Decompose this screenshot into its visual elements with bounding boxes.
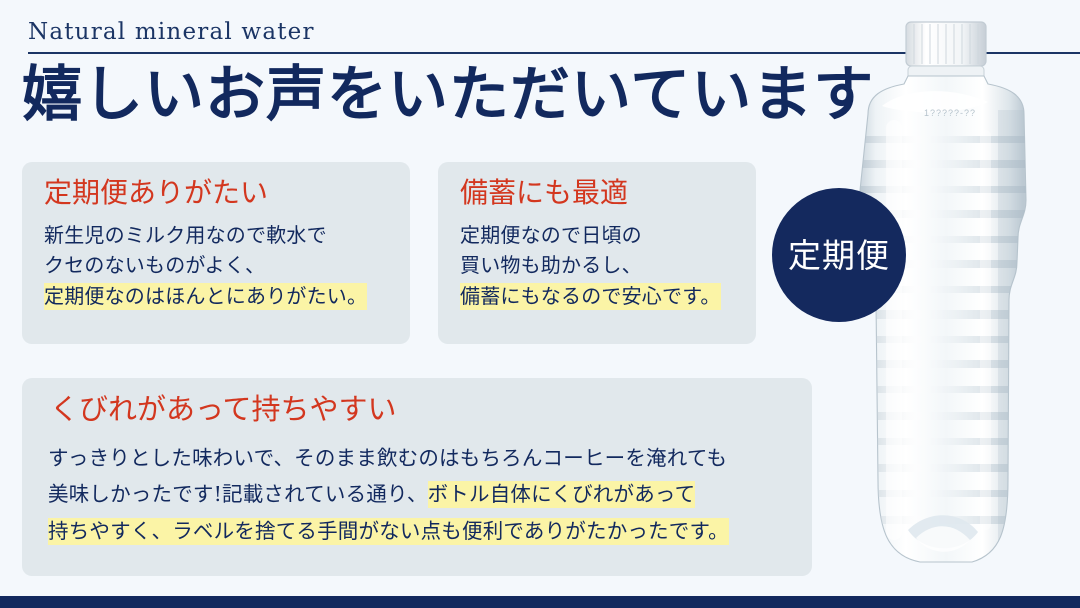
eyebrow-text: Natural mineral water: [28, 20, 1080, 45]
testimonial-line: 定期便なのはほんとにありがたい。: [44, 281, 367, 311]
testimonial-line: クセのないものがよく、: [44, 250, 367, 280]
testimonial-line: 定期便なので日頃の: [460, 220, 721, 250]
testimonial-card-1-title: 定期便ありがたい: [44, 178, 268, 209]
testimonial-line: 美味しかったです!記載されている通り、ボトル自体にくびれがあって: [48, 476, 798, 512]
eyebrow-divider: [28, 52, 1080, 54]
testimonial-line: 新生児のミルク用なので軟水で: [44, 220, 367, 250]
line-plain-text: クセのないものがよく、: [44, 253, 265, 277]
testimonial-card-2: 備蓄にも最適 定期便なので日頃の 買い物も助かるし、 備蓄にもなるので安心です。: [438, 162, 756, 344]
testimonial-card-2-title: 備蓄にも最適: [460, 178, 628, 209]
testimonial-line: すっきりとした味わいで、そのまま飲むのはもちろんコーヒーを淹れても: [48, 440, 798, 476]
testimonial-card-3-body: すっきりとした味わいで、そのまま飲むのはもちろんコーヒーを淹れても 美味しかった…: [48, 440, 798, 549]
slide-canvas: Natural mineral water 嬉しいお声をいただいています 定期便…: [0, 0, 1080, 608]
testimonial-line: 持ちやすく、ラベルを捨てる手間がない点も便利でありがたかったです。: [48, 513, 798, 549]
testimonial-card-1-body: 新生児のミルク用なので軟水で クセのないものがよく、 定期便なのはほんとにありが…: [44, 220, 367, 311]
testimonial-card-1: 定期便ありがたい 新生児のミルク用なので軟水で クセのないものがよく、 定期便な…: [22, 162, 410, 344]
testimonial-line: 備蓄にもなるので安心です。: [460, 281, 721, 311]
subscription-badge-label: 定期便: [788, 239, 890, 272]
line-highlight-text: 定期便なのはほんとにありがたい。: [44, 283, 367, 310]
page-title: 嬉しいお声をいただいています: [22, 58, 874, 133]
bottle-body: 1?????-??: [852, 76, 1042, 562]
eyebrow-wrapper: Natural mineral water: [28, 20, 1080, 45]
line-plain-text: 定期便なので日頃の: [460, 223, 642, 247]
testimonial-line: 買い物も助かるし、: [460, 250, 721, 280]
testimonial-card-3: くびれがあって持ちやすい すっきりとした味わいで、そのまま飲むのはもちろんコーヒ…: [22, 378, 812, 576]
subscription-badge: 定期便: [772, 188, 906, 322]
line-highlight-text: 持ちやすく、ラベルを捨てる手間がない点も便利でありがたかったです。: [48, 518, 729, 545]
svg-text:1?????-??: 1?????-??: [924, 108, 976, 118]
testimonial-card-2-body: 定期便なので日頃の 買い物も助かるし、 備蓄にもなるので安心です。: [460, 220, 721, 311]
line-highlight-text: ボトル自体にくびれがあって: [428, 481, 696, 508]
line-plain-text: 新生児のミルク用なので軟水で: [44, 223, 327, 247]
line-highlight-text: 備蓄にもなるので安心です。: [460, 283, 721, 310]
footer-bar: [0, 596, 1080, 608]
testimonial-card-3-title: くびれがあって持ちやすい: [50, 394, 397, 426]
line-plain-text: 買い物も助かるし、: [460, 253, 642, 277]
line-plain-text: 美味しかったです!記載されている通り、: [48, 482, 428, 506]
line-plain-text: すっきりとした味わいで、そのまま飲むのはもちろんコーヒーを淹れても: [48, 446, 727, 470]
